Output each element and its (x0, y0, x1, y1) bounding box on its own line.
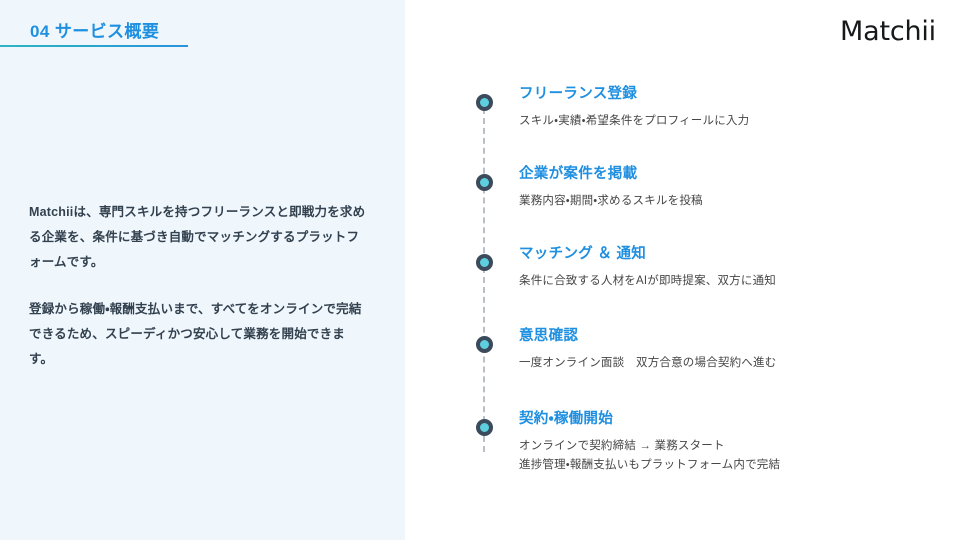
timeline-step-description: スキル・実績・希望条件をプロフィールに入力 (519, 112, 935, 131)
timeline-step-description: 業務内容・期間・求めるスキルを投稿 (519, 192, 935, 211)
page-title: 04 サービス概要 (30, 17, 159, 42)
timeline-step: 契約・稼働開始 オンラインで契約締結 → 業務スタート 進捗管理・報酬支払いもプ… (465, 411, 935, 475)
intro-text-block: Matchiiは、専門スキルを持つフリーランスと即戦力を求める企業を、条件に基づ… (29, 200, 369, 372)
timeline-step-title: 契約・稼働開始 (519, 411, 935, 428)
timeline-step-title: マッチング ＆ 通知 (519, 246, 935, 263)
timeline-step: 企業が案件を掲載 業務内容・期間・求めるスキルを投稿 (465, 166, 935, 222)
intro-paragraph-2: 登録から稼働・報酬支払いまで、すべてをオンラインで完結できるため、スピーディかつ… (29, 297, 369, 372)
timeline-step-description-line: 業務内容・期間・求めるスキルを投稿 (519, 192, 935, 211)
timeline-step-description-line: 進捗管理・報酬支払いもプラットフォーム内で完結 (519, 456, 935, 475)
timeline-step-description-line: オンラインで契約締結 → 業務スタート (519, 437, 935, 456)
timeline-marker-icon (476, 94, 493, 111)
timeline-step: 意思確認 一度オンライン面談 双方合意の場合契約へ進む (465, 328, 935, 384)
timeline-step-title: 意思確認 (519, 328, 935, 345)
intro-paragraph-1: Matchiiは、専門スキルを持つフリーランスと即戦力を求める企業を、条件に基づ… (29, 200, 369, 275)
timeline-step-title: フリーランス登録 (519, 86, 935, 103)
timeline-step-title: 企業が案件を掲載 (519, 166, 935, 183)
timeline-step-description-line: スキル・実績・希望条件をプロフィールに入力 (519, 112, 935, 131)
timeline-step-description-line: 一度オンライン面談 双方合意の場合契約へ進む (519, 354, 935, 373)
process-timeline: フリーランス登録 スキル・実績・希望条件をプロフィールに入力 企業が案件を掲載 … (465, 86, 935, 475)
timeline-step-description: 一度オンライン面談 双方合意の場合契約へ進む (519, 354, 935, 373)
slide-canvas: 04 サービス概要 Matchiiは、専門スキルを持つフリーランスと即戦力を求め… (0, 0, 960, 540)
timeline-step-description-line: 条件に合致する人材をAIが即時提案、双方に通知 (519, 272, 935, 291)
timeline-marker-icon (476, 174, 493, 191)
timeline-step-description: 条件に合致する人材をAIが即時提案、双方に通知 (519, 272, 935, 291)
title-underline-rule (0, 45, 188, 47)
timeline-marker-icon (476, 254, 493, 271)
timeline-step: フリーランス登録 スキル・実績・希望条件をプロフィールに入力 (465, 86, 935, 142)
timeline-step-description: オンラインで契約締結 → 業務スタート 進捗管理・報酬支払いもプラットフォーム内… (519, 437, 935, 475)
brand-logo: Matchii (840, 16, 936, 47)
timeline-step: マッチング ＆ 通知 条件に合致する人材をAIが即時提案、双方に通知 (465, 246, 935, 302)
timeline-marker-icon (476, 419, 493, 436)
timeline-marker-icon (476, 336, 493, 353)
